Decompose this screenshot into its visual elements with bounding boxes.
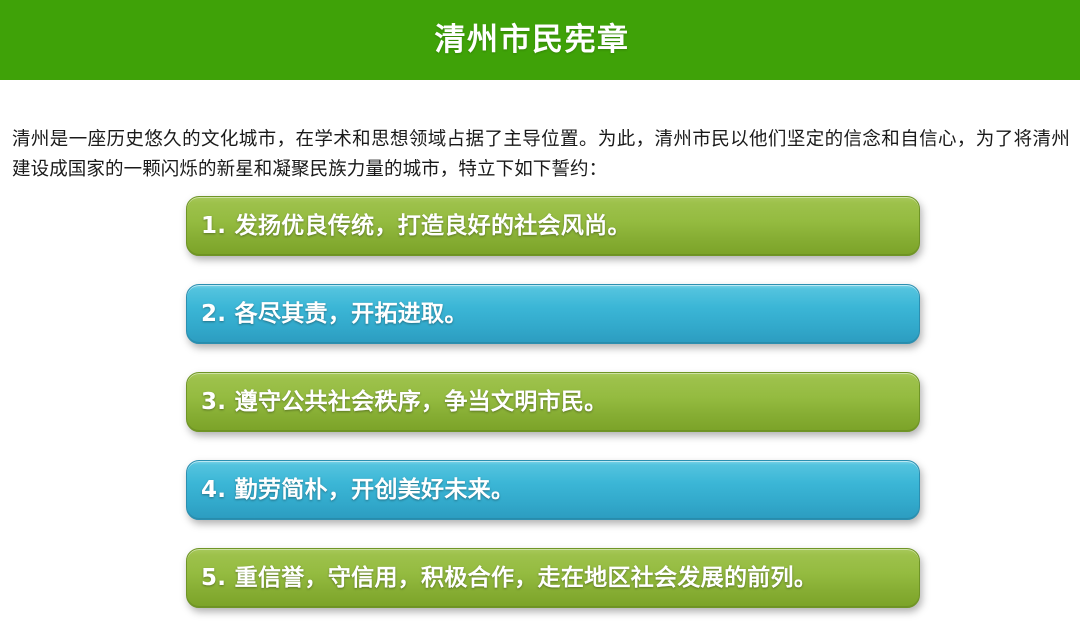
pledge-list: 1. 发扬优良传统，打造良好的社会风尚。 2. 各尽其责，开拓进取。 3. 遵守…	[186, 196, 920, 608]
pledge-item-2: 2. 各尽其责，开拓进取。	[186, 284, 920, 344]
pledge-text-4: 4. 勤劳简朴，开创美好未来。	[201, 479, 514, 502]
page-title: 清州市民宪章	[435, 25, 630, 56]
pledge-item-3: 3. 遵守公共社会秩序，争当文明市民。	[186, 372, 920, 432]
pledge-text-5: 5. 重信誉，守信用，积极合作，走在地区社会发展的前列。	[201, 567, 817, 590]
pledge-item-1: 1. 发扬优良传统，打造良好的社会风尚。	[186, 196, 920, 256]
pledge-text-2: 2. 各尽其责，开拓进取。	[201, 303, 468, 326]
intro-section: 清州是一座历史悠久的文化城市，在学术和思想领域占据了主导位置。为此，清州市民以他…	[0, 80, 1080, 185]
pledge-text-1: 1. 发扬优良传统，打造良好的社会风尚。	[201, 215, 631, 238]
intro-paragraph: 清州是一座历史悠久的文化城市，在学术和思想领域占据了主导位置。为此，清州市民以他…	[12, 125, 1070, 185]
pledge-item-4: 4. 勤劳简朴，开创美好未来。	[186, 460, 920, 520]
pledge-text-3: 3. 遵守公共社会秩序，争当文明市民。	[201, 391, 607, 414]
header-banner: 清州市民宪章	[0, 0, 1080, 80]
pledge-item-5: 5. 重信誉，守信用，积极合作，走在地区社会发展的前列。	[186, 548, 920, 608]
